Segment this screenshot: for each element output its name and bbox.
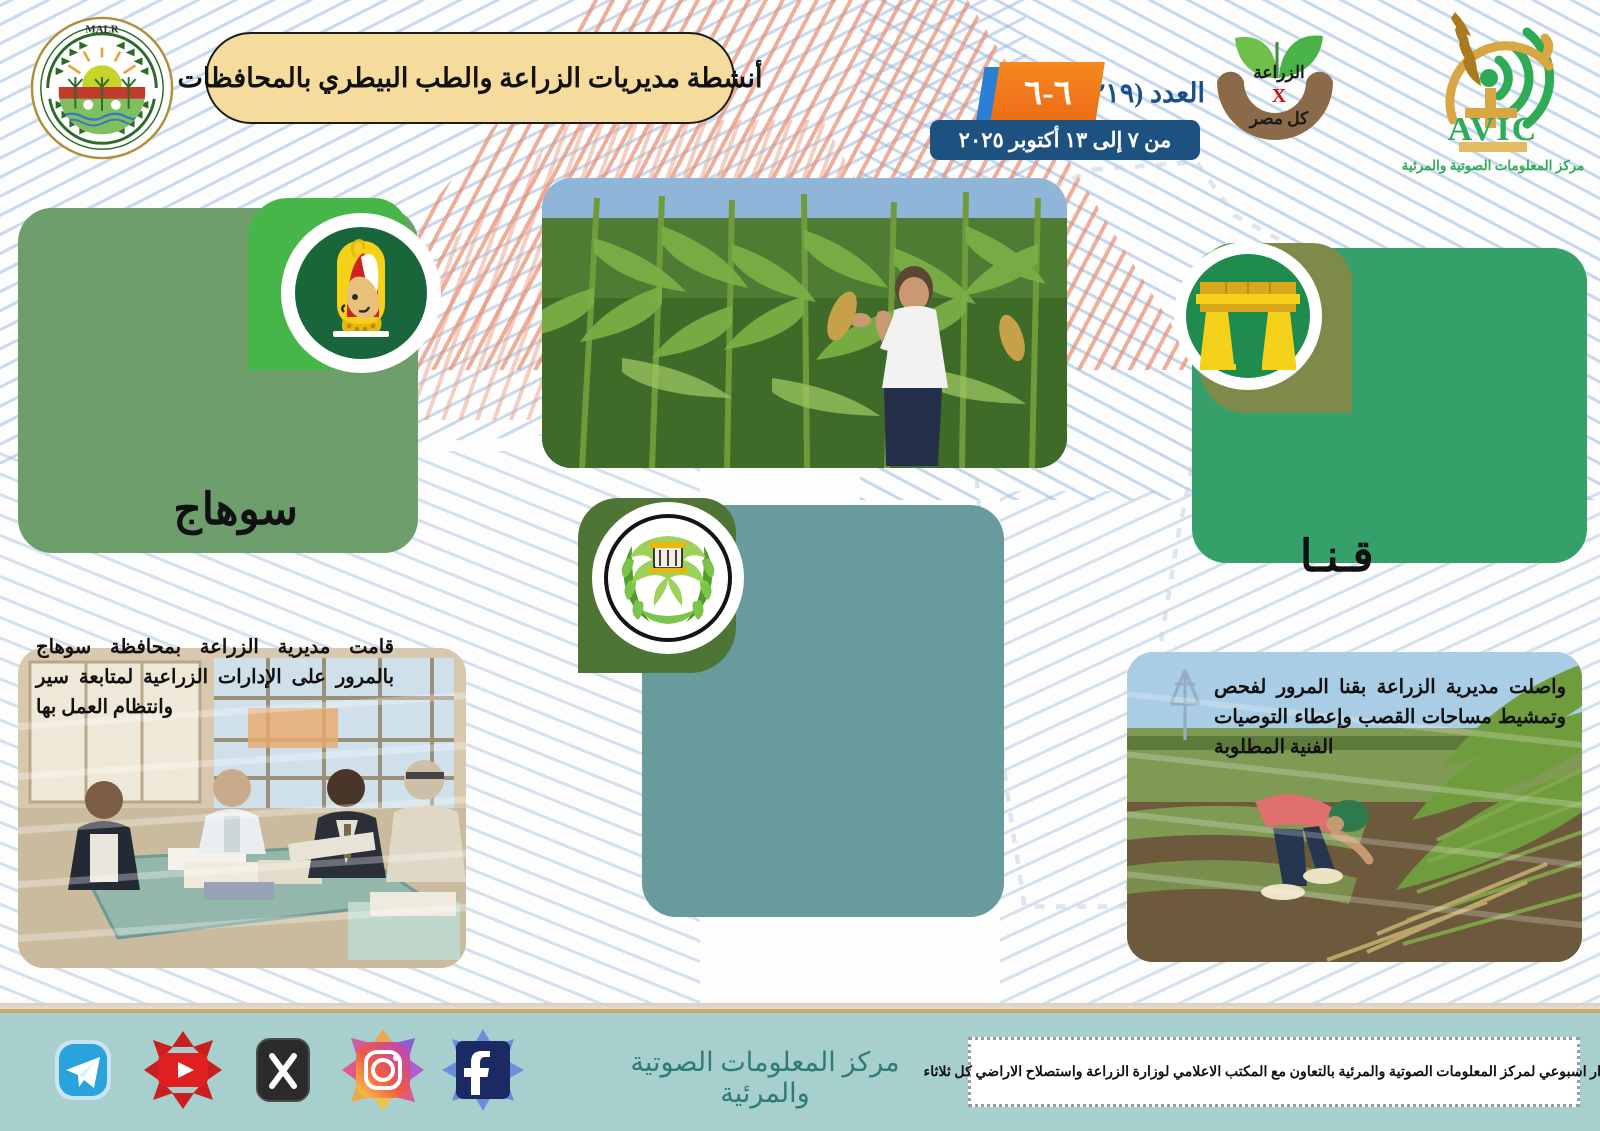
social-links-row xyxy=(42,1029,524,1111)
svg-text:MALR: MALR xyxy=(85,24,118,36)
page-title: أنشطة مديريات الزراعة والطب البيطري بالم… xyxy=(178,63,763,94)
card-sohag-body: قامت مديرية الزراعة بمحافظة سوهاج بالمرو… xyxy=(36,633,394,724)
card-sohag-title: سوهاج xyxy=(173,484,298,535)
issue-info-group: العدد (٢١٩) ٦-٦ من ٧ إلى ١٣ أكتوبر ٢٠٢٥ xyxy=(905,62,1205,162)
card-sohag-emblem-ring xyxy=(281,213,441,373)
card-qena-emblem-ring xyxy=(1174,242,1322,390)
malr-seal-icon: MALR xyxy=(28,14,176,162)
svg-text:كل مصر: كل مصر xyxy=(1248,109,1309,129)
avic-subtitle: مركز المعلومات الصوتية والمرئية xyxy=(1402,158,1585,174)
page-footer: مركز المعلومات الصوتية والمرئية اصدار اس… xyxy=(0,1009,1600,1131)
sohag-pharaoh-emblem-icon xyxy=(281,213,441,373)
instagram-icon[interactable] xyxy=(342,1029,424,1111)
qena-temple-gate-emblem-icon xyxy=(1174,242,1322,390)
footer-center-text: مركز المعلومات الصوتية والمرئية xyxy=(585,1047,945,1109)
zira3a-kol-masr-icon: الزراعة X كل مصر xyxy=(1197,20,1357,160)
youtube-icon[interactable] xyxy=(142,1029,224,1111)
footer-disclaimer-text: اصدار اسبوعي لمركز المعلومات الصوتية وال… xyxy=(924,1064,1600,1081)
date-range-label: من ٧ إلى ١٣ أكتوبر ٢٠٢٥ xyxy=(959,128,1172,153)
issue-badge-number: ٦-٦ xyxy=(1024,73,1072,113)
infographic-page: MALR أنشطة مديريات الزراعة والطب البيطري… xyxy=(0,0,1600,1131)
date-range-band: من ٧ إلى ١٣ أكتوبر ٢٠٢٥ xyxy=(930,120,1200,160)
issue-ribbon-orange: ٦-٦ xyxy=(990,62,1105,124)
card-qena-title: قـنـا xyxy=(1300,531,1374,582)
x-twitter-icon[interactable] xyxy=(242,1029,324,1111)
svg-text:AVIC: AVIC xyxy=(1448,111,1539,148)
avic-logo-icon: AVIC مركز المعلومات الصوتية والمرئية xyxy=(1393,2,1588,178)
svg-text:الزراعة: الزراعة xyxy=(1253,63,1304,83)
svg-text:X: X xyxy=(1272,85,1287,107)
footer-disclaimer-box: اصدار اسبوعي لمركز المعلومات الصوتية وال… xyxy=(968,1037,1580,1107)
facebook-icon[interactable] xyxy=(442,1029,524,1111)
page-header: MALR أنشطة مديريات الزراعة والطب البيطري… xyxy=(0,0,1600,180)
telegram-icon[interactable] xyxy=(42,1029,124,1111)
asyut-eagle-wreath-emblem-icon xyxy=(592,502,744,654)
page-title-banner: أنشطة مديريات الزراعة والطب البيطري بالم… xyxy=(205,32,735,124)
card-qena-body: واصلت مديرية الزراعة بقنا المرور لفحص وت… xyxy=(1214,673,1566,764)
card-asyut-emblem-ring xyxy=(592,502,744,654)
photo-corn-field-inspection xyxy=(542,178,1067,468)
